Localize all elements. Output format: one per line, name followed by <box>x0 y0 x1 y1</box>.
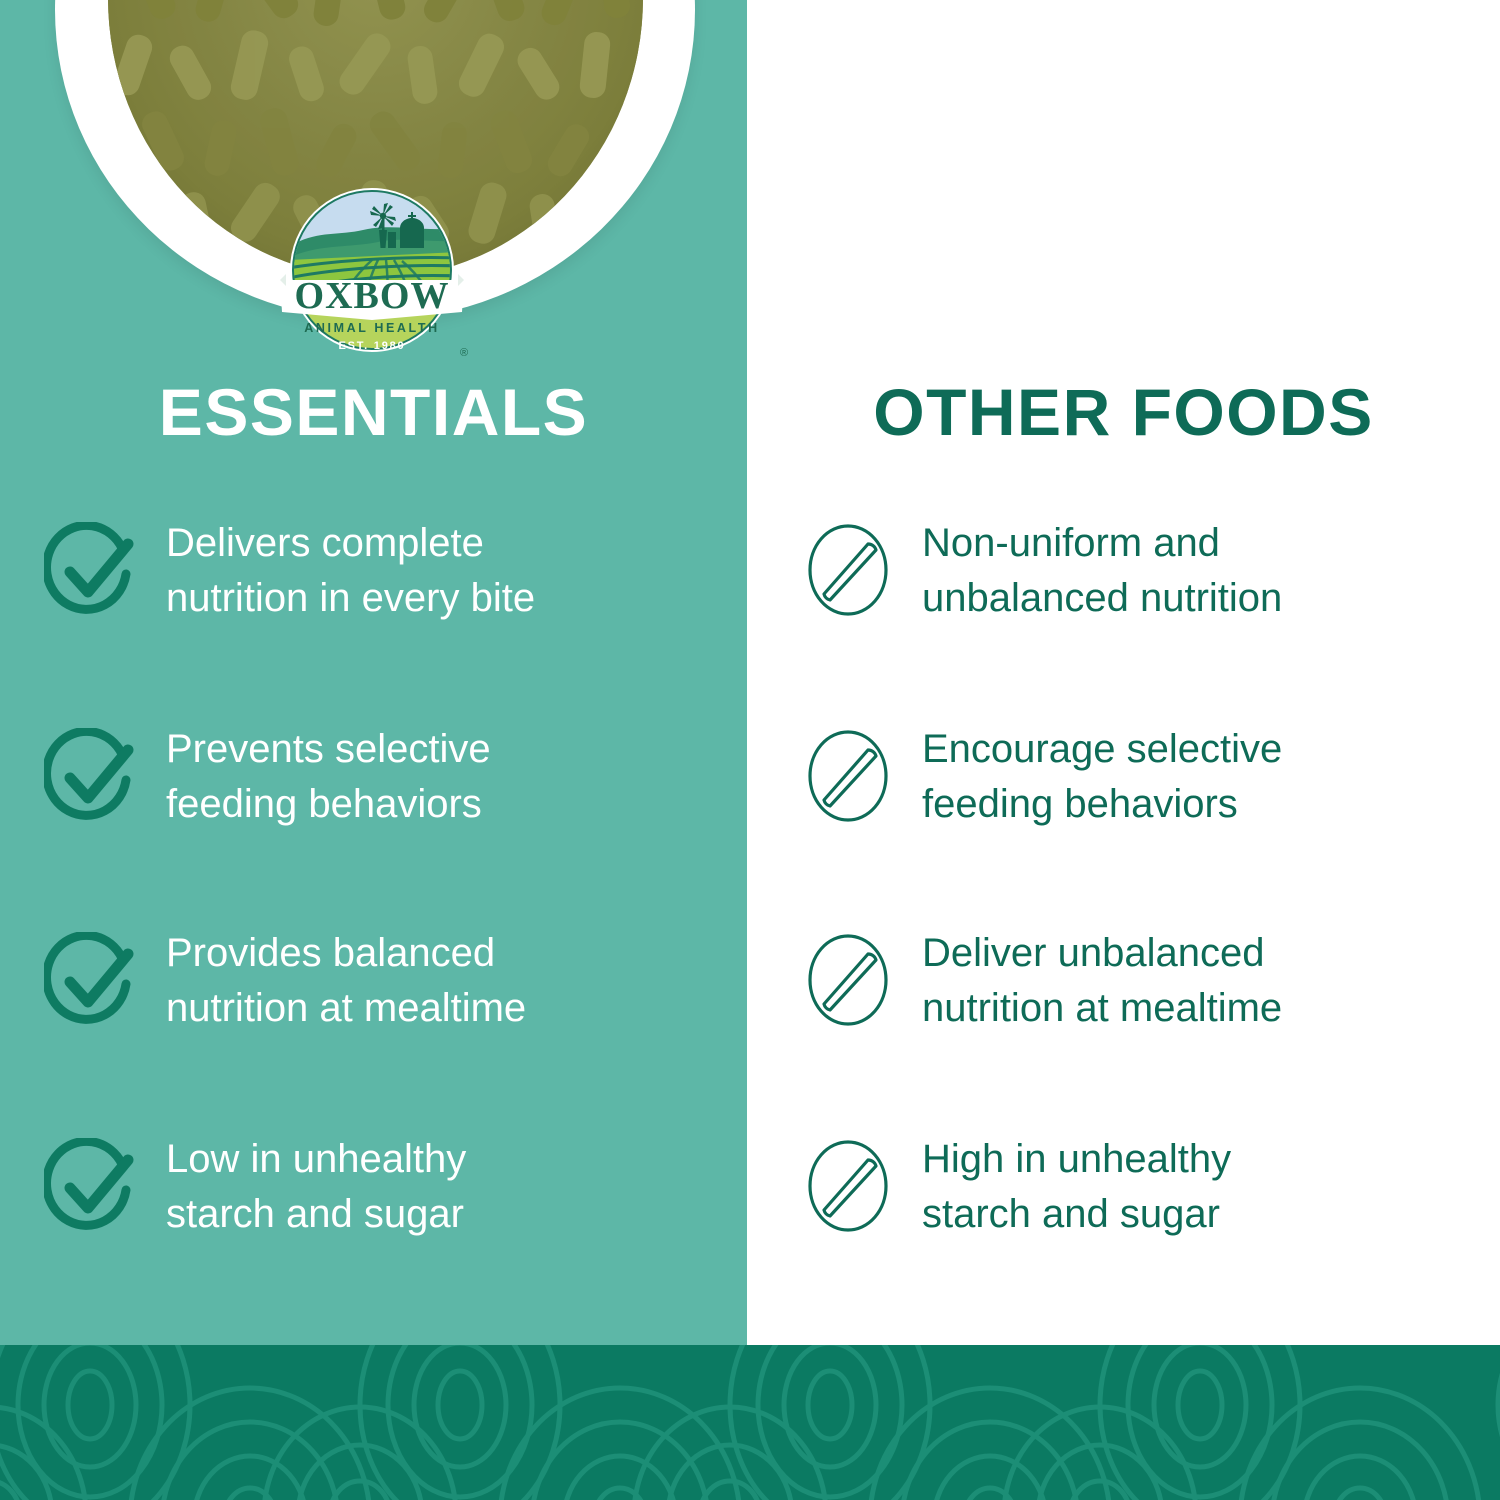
essentials-item-line2: nutrition in every bite <box>166 571 535 626</box>
essentials-item: Prevents selective feeding behaviors <box>44 722 744 832</box>
essentials-item-line2: starch and sugar <box>166 1187 466 1242</box>
prohibited-circle-icon <box>800 728 896 824</box>
logo-wordmark: OXBOW <box>295 275 450 317</box>
essentials-item-line1: Low in unhealthy <box>166 1132 466 1187</box>
other-foods-item-line1: Deliver unbalanced <box>922 926 1282 981</box>
other-foods-item-text: Deliver unbalanced nutrition at mealtime <box>922 926 1282 1036</box>
essentials-item: Delivers complete nutrition in every bit… <box>44 516 744 626</box>
prohibited-circle-icon <box>800 1138 896 1234</box>
other-foods-item: High in unhealthy starch and sugar <box>800 1132 1480 1242</box>
essentials-item-text: Provides balanced nutrition at mealtime <box>166 926 526 1036</box>
essentials-item-line1: Provides balanced <box>166 926 526 981</box>
comparison-rows: Delivers complete nutrition in every bit… <box>0 0 1500 1345</box>
check-circle-icon <box>44 1138 140 1234</box>
other-foods-item-line1: High in unhealthy <box>922 1132 1231 1187</box>
other-foods-item-text: Encourage selective feeding behaviors <box>922 722 1282 832</box>
other-foods-item-line2: feeding behaviors <box>922 777 1282 832</box>
logo-tagline: ANIMAL HEALTH <box>304 321 439 335</box>
other-foods-item-text: Non-uniform and unbalanced nutrition <box>922 516 1282 626</box>
essentials-item-line2: nutrition at mealtime <box>166 981 526 1036</box>
other-foods-item-line2: starch and sugar <box>922 1187 1231 1242</box>
check-circle-icon <box>44 932 140 1028</box>
concentric-circle-pattern <box>0 1345 1500 1500</box>
footer-decorative-band <box>0 1345 1500 1500</box>
essentials-item-text: Low in unhealthy starch and sugar <box>166 1132 466 1242</box>
comparison-infographic: OXBOW ANIMAL HEALTH EST. 1980 ® ESSENTIA… <box>0 0 1500 1500</box>
oxbow-logo: OXBOW ANIMAL HEALTH EST. 1980 ® <box>268 186 476 362</box>
prohibited-circle-icon <box>800 522 896 618</box>
other-foods-item-line1: Encourage selective <box>922 722 1282 777</box>
essentials-item-text: Prevents selective feeding behaviors <box>166 722 491 832</box>
essentials-item: Low in unhealthy starch and sugar <box>44 1132 744 1242</box>
essentials-item-text: Delivers complete nutrition in every bit… <box>166 516 535 626</box>
check-circle-icon <box>44 728 140 824</box>
essentials-item-line1: Delivers complete <box>166 516 535 571</box>
other-foods-item-line2: unbalanced nutrition <box>922 571 1282 626</box>
other-foods-item: Encourage selective feeding behaviors <box>800 722 1480 832</box>
logo-trademark-icon: ® <box>460 347 468 359</box>
oxbow-logo-svg: OXBOW ANIMAL HEALTH EST. 1980 ® <box>268 186 476 362</box>
other-foods-item-text: High in unhealthy starch and sugar <box>922 1132 1231 1242</box>
other-foods-item-line2: nutrition at mealtime <box>922 981 1282 1036</box>
essentials-item: Provides balanced nutrition at mealtime <box>44 926 744 1036</box>
prohibited-circle-icon <box>800 932 896 1028</box>
logo-established: EST. 1980 <box>339 340 406 352</box>
other-foods-item: Non-uniform and unbalanced nutrition <box>800 516 1480 626</box>
essentials-item-line1: Prevents selective <box>166 722 491 777</box>
essentials-item-line2: feeding behaviors <box>166 777 491 832</box>
other-foods-item: Deliver unbalanced nutrition at mealtime <box>800 926 1480 1036</box>
check-circle-icon <box>44 522 140 618</box>
other-foods-item-line1: Non-uniform and <box>922 516 1282 571</box>
